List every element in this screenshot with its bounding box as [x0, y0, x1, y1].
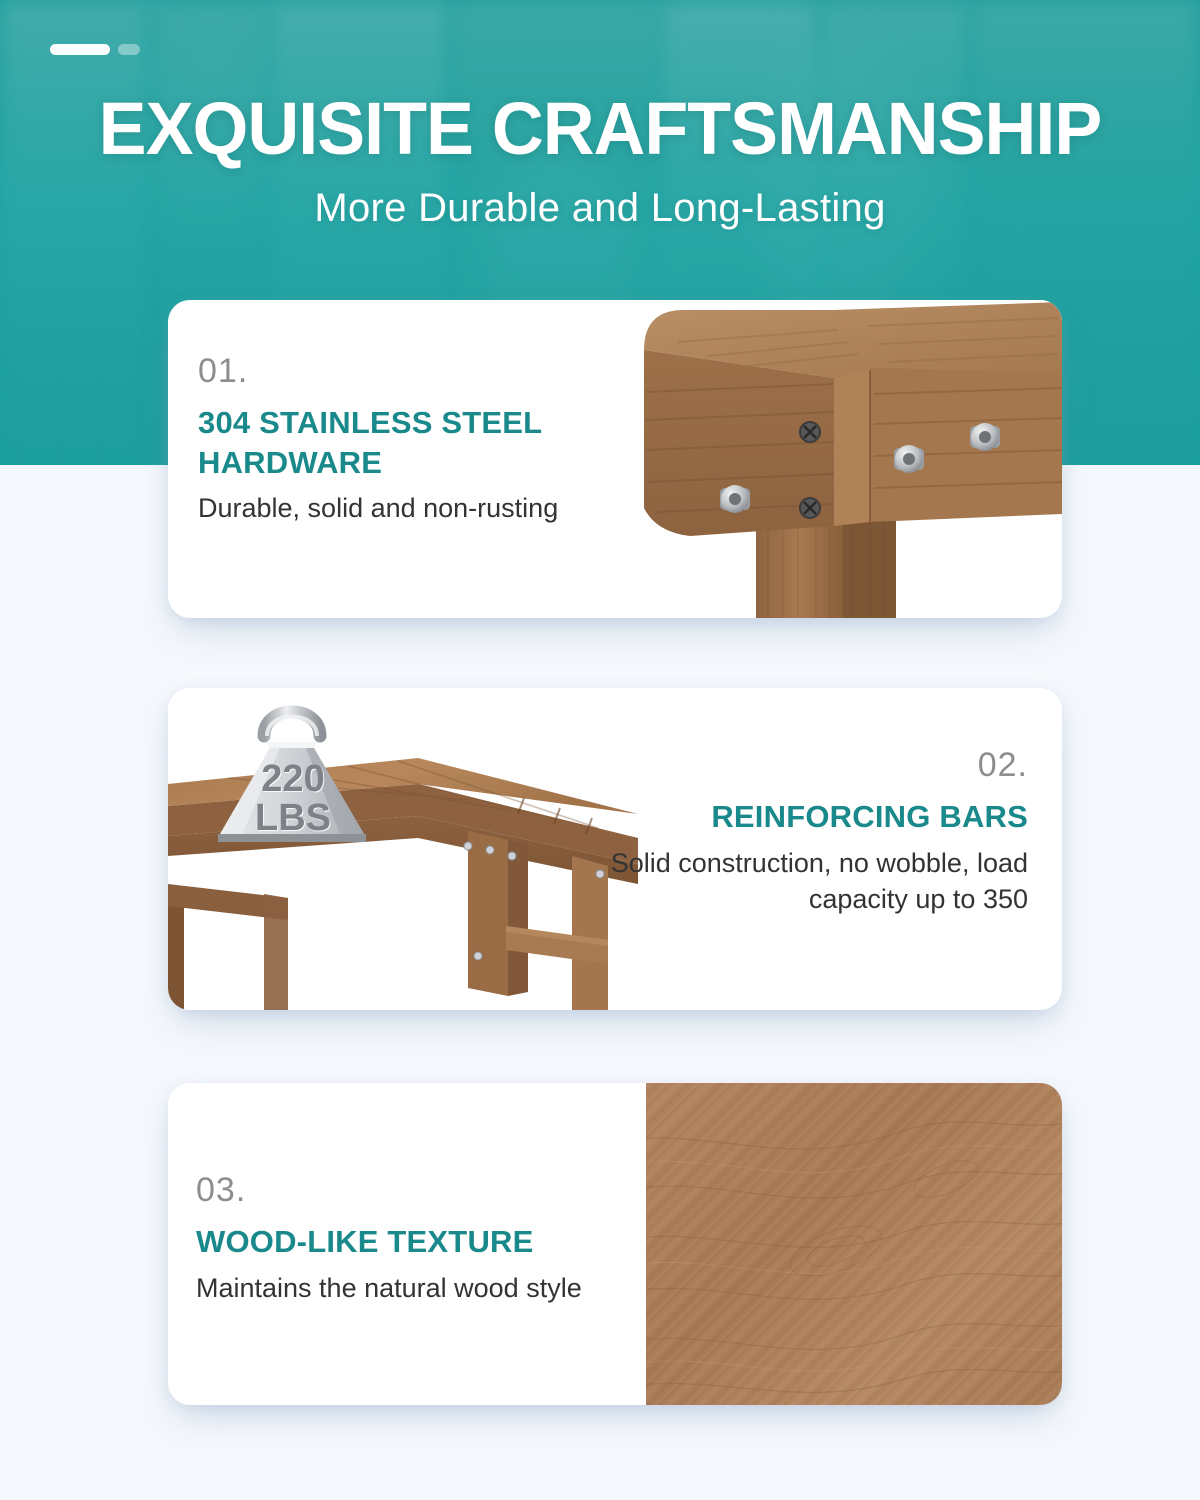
- feature-2-text: 02. REINFORCING BARS Solid construction,…: [558, 746, 1028, 918]
- feature-3-title: WOOD-LIKE TEXTURE: [196, 1222, 696, 1262]
- bolt: [720, 485, 750, 513]
- screw: [799, 497, 821, 519]
- weight-unit: LBS: [224, 799, 362, 838]
- feature-card-3: 03. WOOD-LIKE TEXTURE Maintains the natu…: [168, 1083, 1062, 1405]
- pill-active: [50, 44, 110, 55]
- feature-card-1: 01. 304 STAINLESS STEEL HARDWARE Durable…: [168, 300, 1062, 618]
- pill-inactive: [118, 44, 140, 55]
- bolt: [894, 445, 924, 473]
- progress-pills: [50, 44, 140, 55]
- feature-2-number: 02.: [558, 746, 1028, 785]
- feature-3-text: 03. WOOD-LIKE TEXTURE Maintains the natu…: [196, 1171, 696, 1306]
- page-subtitle: More Durable and Long-Lasting: [0, 186, 1200, 231]
- feature-2-title: REINFORCING BARS: [558, 797, 1028, 837]
- weight-block-label: 220 LBS: [224, 760, 362, 838]
- page-title: EXQUISITE CRAFTSMANSHIP: [18, 92, 1182, 166]
- bench-corner-image: [638, 300, 1062, 618]
- feature-2-description: Solid construction, no wobble, load capa…: [558, 845, 1028, 918]
- screw: [799, 421, 821, 443]
- bolt: [970, 423, 1000, 451]
- weight-amount: 220: [224, 760, 362, 799]
- feature-1-description: Durable, solid and non-rusting: [198, 490, 668, 526]
- wood-texture-image: [646, 1083, 1062, 1405]
- feature-1-number: 01.: [198, 352, 668, 391]
- feature-1-title: 304 STAINLESS STEEL HARDWARE: [198, 403, 668, 482]
- feature-1-text: 01. 304 STAINLESS STEEL HARDWARE Durable…: [198, 352, 668, 527]
- wood-grain-overlay: [646, 1083, 1062, 1405]
- feature-card-2: 220 LBS 02. REINFORCING BARS Solid const…: [168, 688, 1062, 1010]
- feature-3-description: Maintains the natural wood style: [196, 1270, 696, 1306]
- feature-3-number: 03.: [196, 1171, 696, 1210]
